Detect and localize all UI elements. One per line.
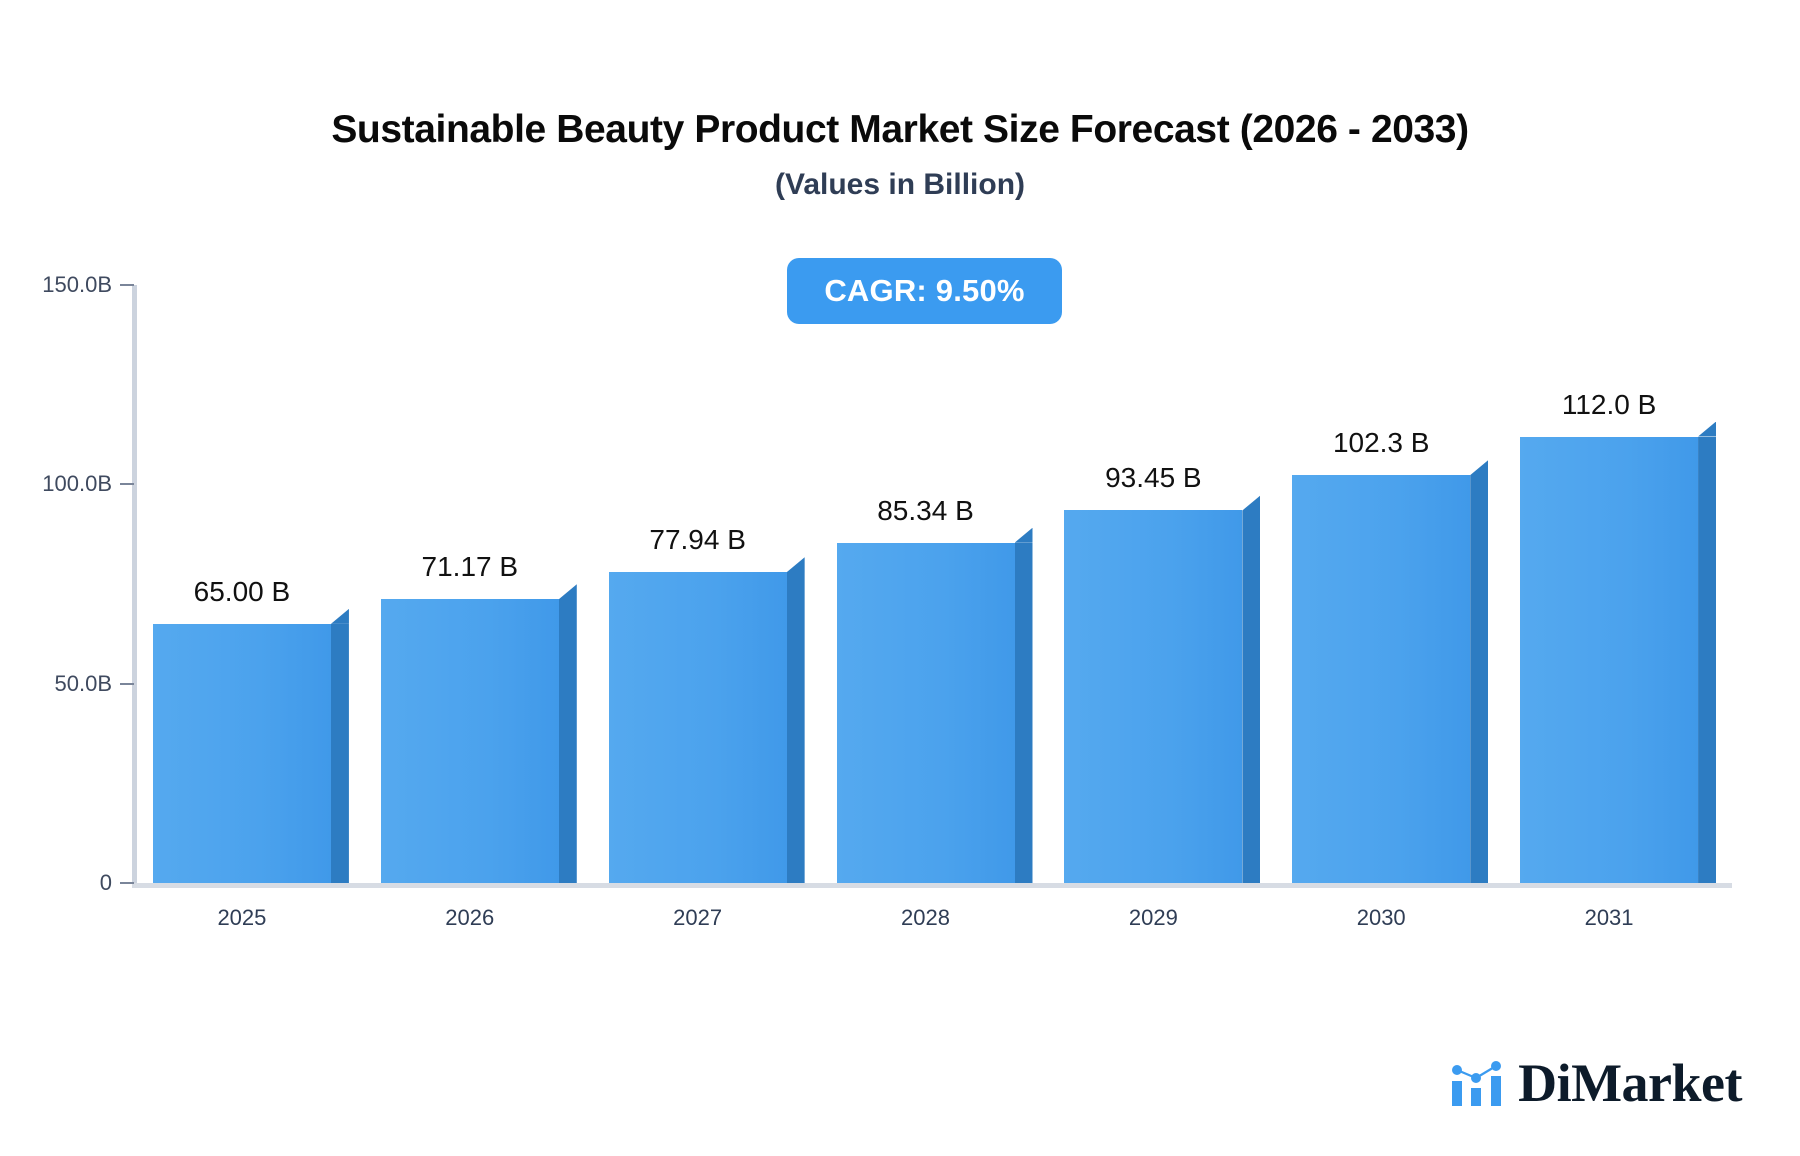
- bar[interactable]: 65.00 B: [153, 624, 349, 883]
- bar-top-face: [1470, 460, 1488, 475]
- y-axis-tick: [120, 882, 134, 884]
- y-axis-tick: [120, 483, 134, 485]
- y-axis-tick-label: 150.0B: [42, 272, 112, 298]
- bar-value-label: 93.45 B: [1064, 462, 1242, 494]
- bar-front-face: [381, 599, 559, 883]
- x-axis-tick-label: 2031: [1585, 905, 1634, 931]
- bar-top-face: [1698, 422, 1716, 437]
- bar[interactable]: 77.94 B: [609, 572, 805, 883]
- bar-top-face: [1242, 495, 1260, 510]
- bar-top-face: [787, 557, 805, 572]
- bar-side-face: [1698, 437, 1716, 884]
- bar-front-face: [609, 572, 787, 883]
- bar-front-face: [1064, 510, 1242, 883]
- y-axis-tick-label: 0: [100, 870, 112, 896]
- bar-value-label: 71.17 B: [381, 551, 559, 583]
- chart-page: Sustainable Beauty Product Market Size F…: [0, 0, 1800, 1156]
- bar-top-face: [331, 609, 349, 624]
- bar-side-face: [1015, 543, 1033, 883]
- x-axis-tick-label: 2028: [901, 905, 950, 931]
- chart-subtitle: (Values in Billion): [0, 168, 1800, 202]
- bar[interactable]: 85.34 B: [837, 543, 1033, 883]
- bar-top-face: [559, 584, 577, 599]
- bar-series: 65.00 B71.17 B77.94 B85.34 B93.45 B102.3…: [137, 285, 1732, 883]
- bar-front-face: [837, 543, 1015, 883]
- bar[interactable]: 102.3 B: [1292, 475, 1488, 883]
- y-axis-tick: [120, 284, 134, 286]
- bar-value-label: 85.34 B: [837, 495, 1015, 527]
- bar[interactable]: 93.45 B: [1064, 510, 1260, 883]
- bar-value-label: 112.0 B: [1520, 389, 1698, 421]
- bar-side-face: [1242, 510, 1260, 883]
- x-axis-tick-label: 2025: [217, 905, 266, 931]
- bar-value-label: 102.3 B: [1292, 427, 1470, 459]
- bar-front-face: [1292, 475, 1470, 883]
- bar-side-face: [559, 599, 577, 883]
- bar-value-label: 65.00 B: [153, 576, 331, 608]
- bar-chart-icon: [1451, 1059, 1505, 1107]
- y-axis-tick: [120, 683, 134, 685]
- bar-front-face: [1520, 437, 1698, 884]
- y-axis-labels: 050.0B100.0B150.0B: [0, 0, 112, 1156]
- bar-side-face: [787, 572, 805, 883]
- bar-value-label: 77.94 B: [609, 524, 787, 556]
- bar-front-face: [153, 624, 331, 883]
- y-axis-tick-label: 50.0B: [55, 671, 113, 697]
- brand-logo-text: DiMarket: [1518, 1052, 1742, 1114]
- y-axis-tick-label: 100.0B: [42, 471, 112, 497]
- bar[interactable]: 112.0 B: [1520, 437, 1716, 884]
- x-axis-tick-label: 2026: [445, 905, 494, 931]
- x-axis-line: [132, 883, 1732, 888]
- bar-side-face: [1470, 475, 1488, 883]
- x-axis-tick-label: 2030: [1357, 905, 1406, 931]
- brand-logo: DiMarket: [1451, 1052, 1742, 1114]
- bar-side-face: [331, 624, 349, 883]
- bar[interactable]: 71.17 B: [381, 599, 577, 883]
- x-axis-tick-label: 2029: [1129, 905, 1178, 931]
- x-axis-tick-label: 2027: [673, 905, 722, 931]
- chart-title: Sustainable Beauty Product Market Size F…: [0, 108, 1800, 152]
- bar-top-face: [1015, 528, 1033, 543]
